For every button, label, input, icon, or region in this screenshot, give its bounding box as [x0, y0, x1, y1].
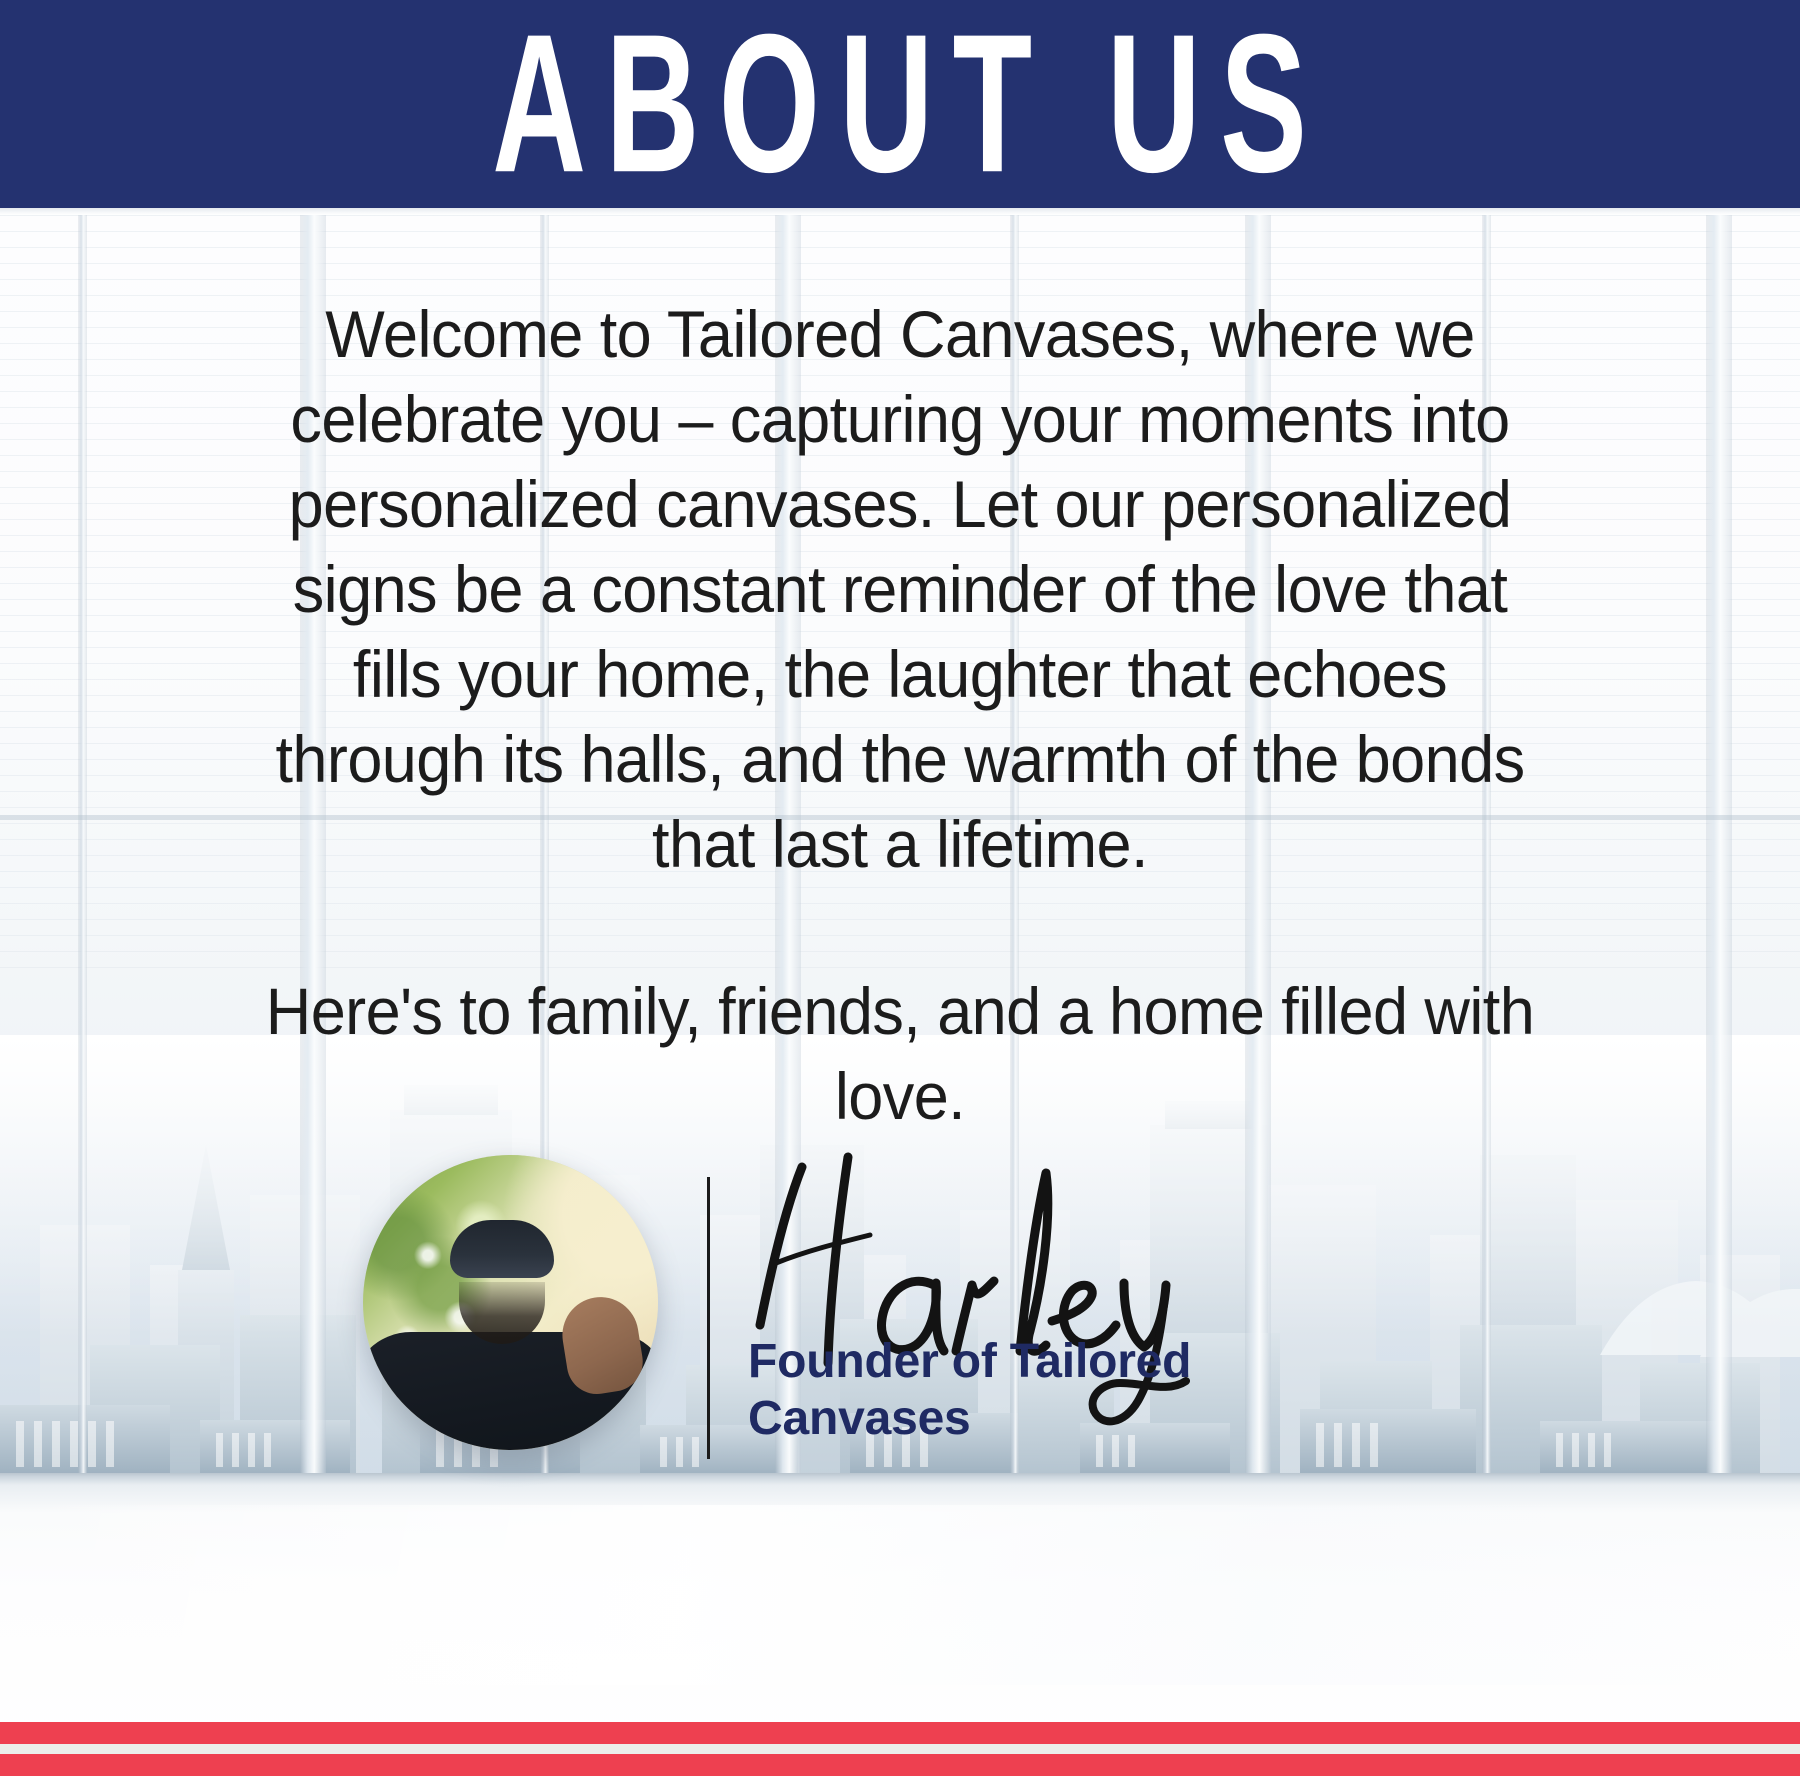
header-edge-shadow [0, 208, 1800, 215]
paragraph-spacer [246, 887, 1554, 969]
paragraph-welcome: Welcome to Tailored Canvases, where we c… [246, 292, 1554, 887]
about-us-poster: ABOUT US Welcome to Tailored Canvases, w… [0, 0, 1800, 1776]
page-title: ABOUT US [473, 5, 1326, 202]
avatar-hair [450, 1220, 554, 1278]
footer-stripe-gap [0, 1744, 1800, 1754]
about-copy: Welcome to Tailored Canvases, where we c… [246, 292, 1554, 1139]
founder-role: Founder of Tailored Canvases [748, 1333, 1288, 1447]
header-banner: ABOUT US [0, 0, 1800, 208]
signature-divider [707, 1177, 710, 1459]
paragraph-toast: Here's to family, friends, and a home fi… [246, 969, 1554, 1139]
window-mullion [78, 215, 87, 1477]
avatar [363, 1155, 658, 1450]
signature-block: Founder of Tailored Canvases [355, 1145, 1355, 1475]
footer-stripe-top [0, 1722, 1800, 1744]
floor-reflection [0, 1505, 1800, 1685]
footer-stripe-bottom [0, 1754, 1800, 1776]
window-mullion [1706, 215, 1732, 1477]
